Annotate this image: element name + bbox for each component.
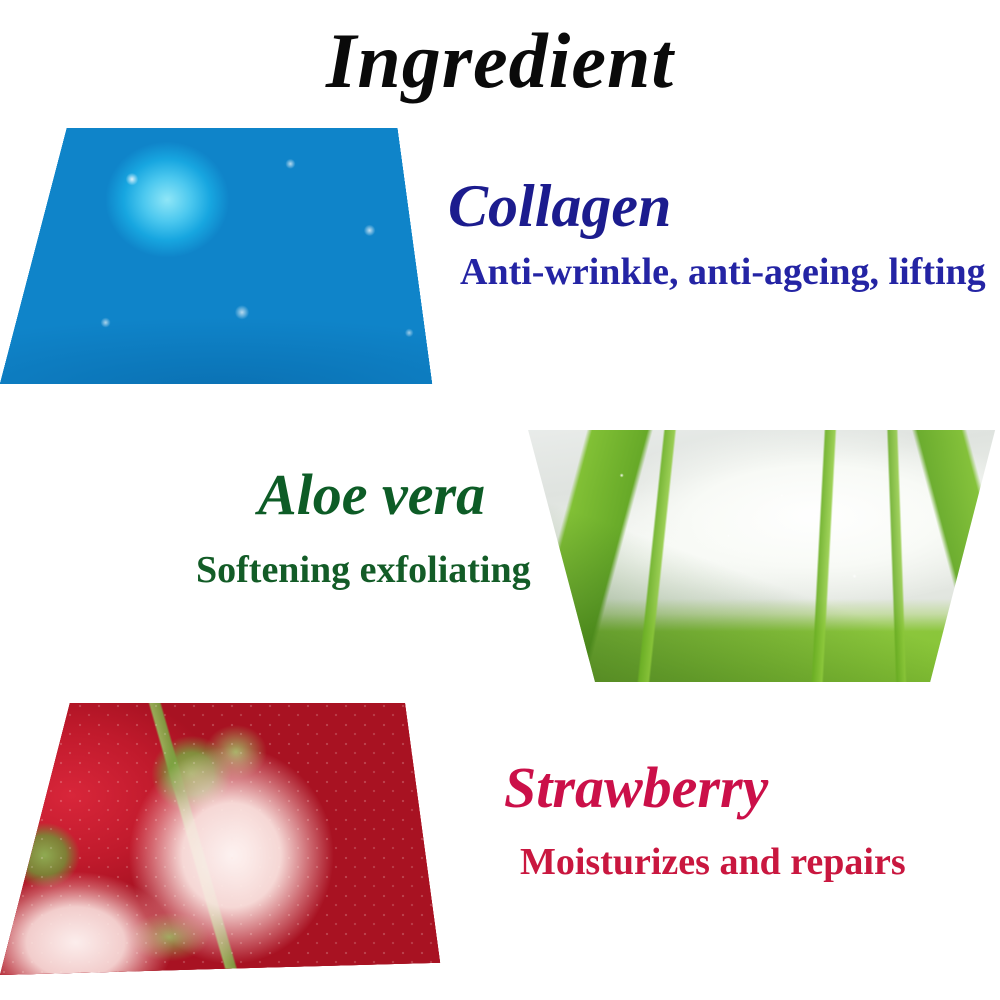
ingredient-infographic: Ingredient Collagen Anti-wrinkle, anti-a… (0, 0, 1000, 1000)
aloe-vera-image-panel (515, 430, 1000, 682)
collagen-name-label: Collagen (448, 176, 671, 236)
aloe-vera-gel-image (515, 430, 1000, 682)
collagen-description-label: Anti-wrinkle, anti-ageing, lifting (460, 253, 986, 291)
strawberry-image-panel (0, 703, 445, 975)
strawberry-description-label: Moisturizes and repairs (520, 843, 906, 881)
page-title: Ingredient (0, 22, 1000, 100)
collagen-image-panel (0, 128, 440, 384)
aloe-vera-name-label: Aloe vera (258, 466, 485, 524)
strawberry-name-label: Strawberry (504, 759, 768, 817)
aloe-vera-description-label: Softening exfoliating (196, 551, 531, 589)
strawberry-fruit-image (0, 703, 445, 975)
blue-collagen-bubbles-image (0, 128, 440, 384)
